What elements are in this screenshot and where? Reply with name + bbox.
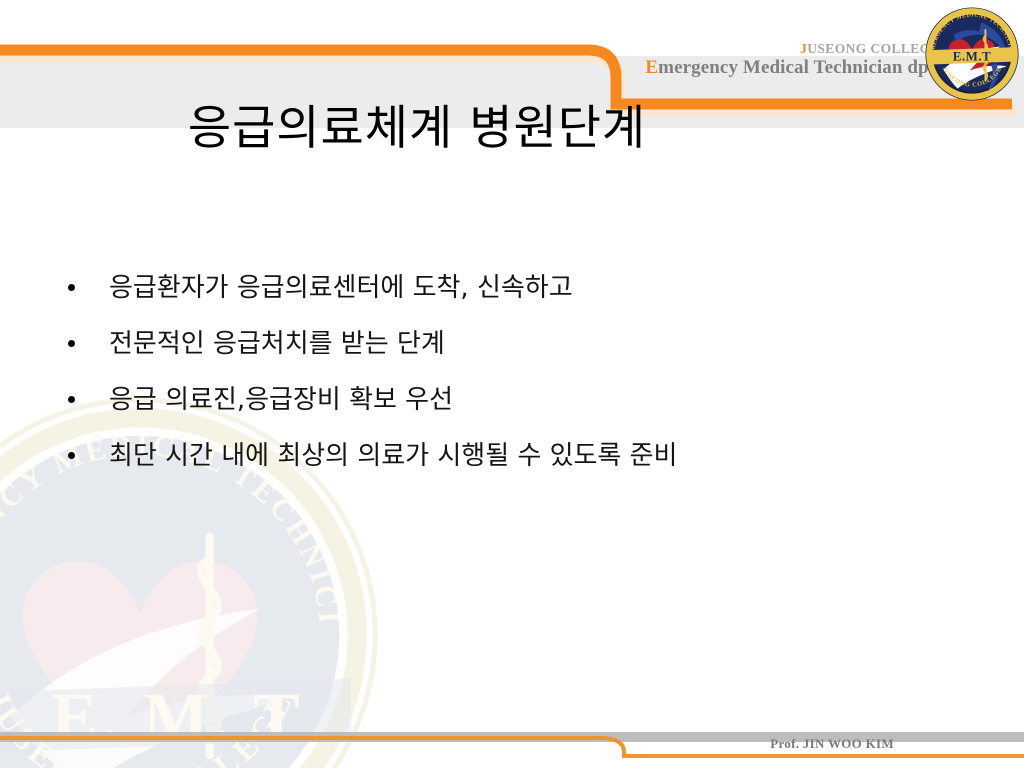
emt-crest-logo: E.M.T EMERGENCY MEDICAL TECHNICIAN JUSEO…	[924, 6, 1020, 102]
college-name-rest: USEONG COLLEGE	[807, 41, 940, 56]
list-item: 응급 의료진,응급장비 확보 우선	[62, 380, 982, 436]
department-name: Emergency Medical Technician dpt.	[645, 58, 940, 78]
bullet-dot-icon	[68, 340, 75, 347]
bullet-list: 응급환자가 응급의료센터에 도착, 신속하고 전문적인 응급처치를 받는 단계 …	[62, 268, 982, 492]
page-title: 응급의료체계 병원단계	[0, 89, 1024, 158]
college-name: JUSEONG COLLEGE	[645, 42, 940, 56]
list-item-label: 전문적인 응급처치를 받는 단계	[109, 329, 445, 359]
brand-block: JUSEONG COLLEGE Emergency Medical Techni…	[645, 42, 940, 78]
slide-footer: Prof. JIN WOO KIM	[0, 712, 1024, 768]
bullet-dot-icon	[68, 452, 75, 459]
list-item: 전문적인 응급처치를 받는 단계	[62, 324, 982, 380]
department-name-rest: mergency Medical Technician dpt.	[658, 57, 940, 78]
slide-header: 응급의료체계 병원단계 JUSEONG COLLEGE Emergency Me…	[0, 0, 1024, 132]
list-item-label: 응급 의료진,응급장비 확보 우선	[109, 385, 453, 415]
slide-canvas: E. M. T EMERGENCY MEDICAL TECHNICIAN JUS…	[0, 0, 1024, 768]
bullet-dot-icon	[68, 284, 75, 291]
footer-credit-text: Prof. JIN WOO KIM	[770, 736, 894, 752]
crest-banner-text: E.M.T	[953, 49, 991, 64]
bullet-dot-icon	[68, 396, 75, 403]
list-item: 응급환자가 응급의료센터에 도착, 신속하고	[62, 268, 982, 324]
department-initial: E	[645, 57, 658, 78]
list-item-label: 최단 시간 내에 최상의 의료가 시행될 수 있도록 준비	[109, 441, 677, 471]
list-item: 최단 시간 내에 최상의 의료가 시행될 수 있도록 준비	[62, 436, 982, 492]
list-item-label: 응급환자가 응급의료센터에 도착, 신속하고	[109, 273, 573, 303]
